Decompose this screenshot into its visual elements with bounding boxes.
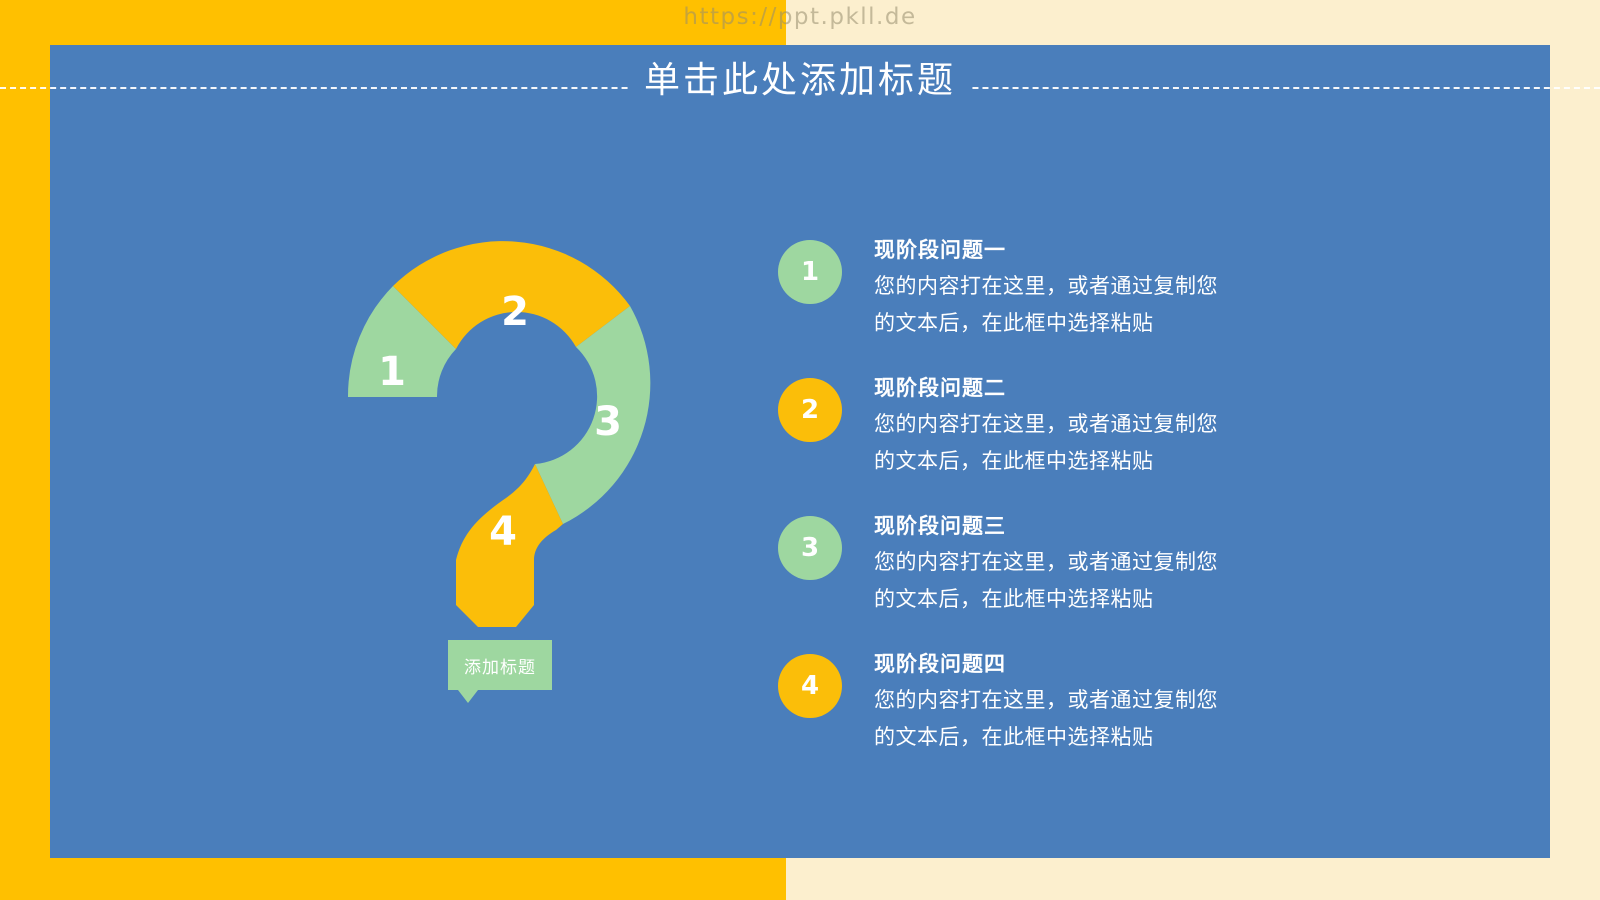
list-item-body-line-1: 您的内容打在这里，或者通过复制您 [874,269,1274,305]
list-item-body-line-2: 的文本后，在此框中选择粘贴 [874,444,1274,480]
diagram-segment-3[interactable] [535,306,650,524]
list-item[interactable]: 3 现阶段问题三 您的内容打在这里，或者通过复制您 的文本后，在此框中选择粘贴 [778,512,1298,632]
list-item-body-line-2: 的文本后，在此框中选择粘贴 [874,720,1274,756]
page-title-text: 单击此处添加标题 [628,58,972,101]
list-item-body-line-2: 的文本后，在此框中选择粘贴 [874,582,1274,618]
page-title: 单击此处添加标题 [0,58,1600,101]
list-item-badge: 2 [778,378,842,442]
diagram-label-1: 1 [378,349,406,395]
list-item-heading: 现阶段问题三 [874,512,1298,541]
list-item-number: 1 [801,257,819,287]
list-item-badge: 3 [778,516,842,580]
diagram-label-3: 3 [594,399,622,445]
diagram-label-2: 2 [501,289,529,335]
problem-list: 1 现阶段问题一 您的内容打在这里，或者通过复制您 的文本后，在此框中选择粘贴 … [778,236,1298,788]
list-item[interactable]: 2 现阶段问题二 您的内容打在这里，或者通过复制您 的文本后，在此框中选择粘贴 [778,374,1298,494]
diagram-label-4: 4 [489,509,517,555]
list-item-heading: 现阶段问题四 [874,650,1298,679]
list-item-badge: 1 [778,240,842,304]
list-item-number: 3 [801,533,819,563]
list-item-badge: 4 [778,654,842,718]
list-item-number: 4 [801,671,819,701]
list-item[interactable]: 1 现阶段问题一 您的内容打在这里，或者通过复制您 的文本后，在此框中选择粘贴 [778,236,1298,356]
list-item-body-line-1: 您的内容打在这里，或者通过复制您 [874,683,1274,719]
list-item-number: 2 [801,395,819,425]
list-item-heading: 现阶段问题一 [874,236,1298,265]
list-item[interactable]: 4 现阶段问题四 您的内容打在这里，或者通过复制您 的文本后，在此框中选择粘贴 [778,650,1298,770]
list-item-body-line-1: 您的内容打在这里，或者通过复制您 [874,545,1274,581]
diagram-caption-box[interactable]: 添加标题 [448,640,552,690]
list-item-body-line-1: 您的内容打在这里，或者通过复制您 [874,407,1274,443]
diagram-caption-pointer [458,690,478,703]
list-item-heading: 现阶段问题二 [874,374,1298,403]
slide-canvas: https://ppt.pkll.de 单击此处添加标题 1 2 3 4 添加标… [0,0,1600,900]
list-item-body-line-2: 的文本后，在此框中选择粘贴 [874,306,1274,342]
question-mark-diagram: 1 2 3 4 [320,230,700,630]
diagram-caption-text: 添加标题 [464,653,536,678]
